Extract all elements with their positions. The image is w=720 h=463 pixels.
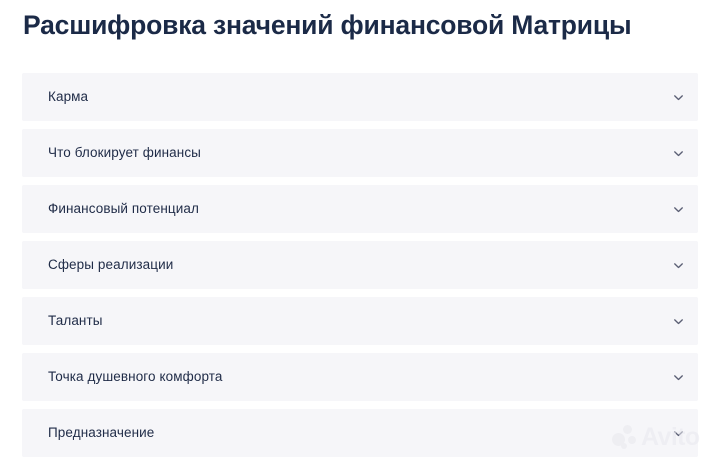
accordion-item-label: Сферы реализации bbox=[48, 256, 698, 274]
accordion-item-label: Финансовый потенциал bbox=[48, 200, 698, 218]
chevron-down-icon[interactable] bbox=[667, 310, 689, 332]
chevron-down-icon[interactable] bbox=[667, 254, 689, 276]
chevron-down-icon[interactable] bbox=[667, 198, 689, 220]
accordion-item-chto-blokiruet-finansy[interactable]: Что блокирует финансы bbox=[22, 129, 698, 177]
accordion-item-label: Карма bbox=[48, 88, 698, 106]
accordion-list: Карма Что блокирует финансы Финансовый п… bbox=[22, 73, 698, 457]
accordion-item-label: Точка душевного комфорта bbox=[48, 368, 698, 386]
accordion-item-prednaznachenie[interactable]: Предназначение bbox=[22, 409, 698, 457]
accordion-item-sfery-realizacii[interactable]: Сферы реализации bbox=[22, 241, 698, 289]
accordion-item-finansovyy-potencial[interactable]: Финансовый потенциал bbox=[22, 185, 698, 233]
accordion-item-karma[interactable]: Карма bbox=[22, 73, 698, 121]
accordion-item-label: Таланты bbox=[48, 312, 698, 330]
chevron-down-icon[interactable] bbox=[667, 366, 689, 388]
accordion-item-label: Предназначение bbox=[48, 424, 698, 442]
chevron-down-icon[interactable] bbox=[667, 86, 689, 108]
page-title: Расшифровка значений финансовой Матрицы bbox=[23, 9, 713, 41]
accordion-item-tochka-dushevnogo-komforta[interactable]: Точка душевного комфорта bbox=[22, 353, 698, 401]
accordion-item-talanty[interactable]: Таланты bbox=[22, 297, 698, 345]
accordion-item-label: Что блокирует финансы bbox=[48, 144, 698, 162]
page-root: Расшифровка значений финансовой Матрицы … bbox=[0, 0, 720, 463]
chevron-down-icon[interactable] bbox=[667, 142, 689, 164]
chevron-down-icon[interactable] bbox=[667, 422, 689, 444]
